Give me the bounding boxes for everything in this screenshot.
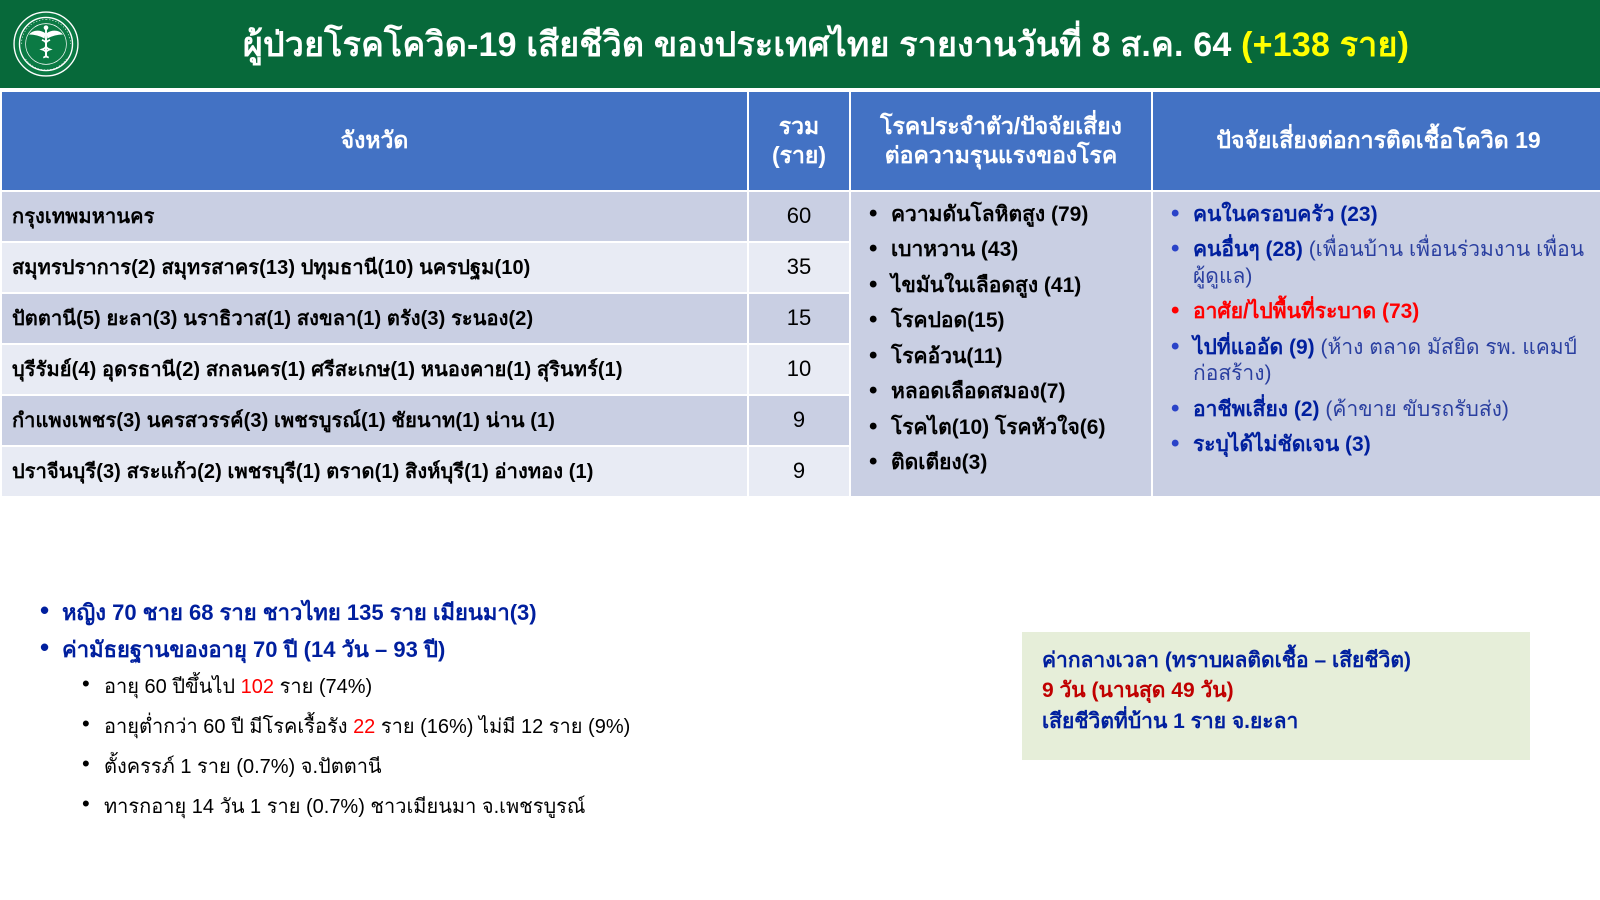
cell-province: ปัตตานี(5) ยะลา(3) นราธิวาส(1) สงขลา(1) … [2, 294, 747, 343]
ministry-of-public-health-seal-icon [12, 10, 80, 78]
list-item: หลอดเลือดสมอง(7) [865, 379, 1143, 405]
note-age-60-plus: อายุ 60 ปีขึ้นไป 102 ราย (74%) [78, 675, 734, 699]
risk-label: ระบุได้ไม่ชัดเจน (3) [1193, 433, 1371, 456]
note-age-under-60-prefix: อายุต่ำกว่า 60 ปี มีโรคเรื้อรัง [104, 716, 353, 738]
cell-province: กรุงเทพมหานคร [2, 192, 747, 241]
note-demographics: หญิง 70 ชาย 68 ราย ชาวไทย 135 ราย เมียนม… [34, 600, 734, 626]
cell-province: สมุทรปราการ(2) สมุทรสาคร(13) ปทุมธานี(10… [2, 243, 747, 292]
risk-label: อาชีพเสี่ยง (2) [1193, 398, 1320, 421]
underlying-conditions-list: ความดันโลหิตสูง (79)เบาหวาน (43)ไขมันในเ… [865, 202, 1143, 477]
note-age-under-60: อายุต่ำกว่า 60 ปี มีโรคเรื้อรัง 22 ราย (… [78, 715, 734, 739]
page-title: ผู้ป่วยโรคโควิด-19 เสียชีวิต ของประเทศไท… [92, 17, 1600, 71]
cell-province: กำแพงเพชร(3) นครสวรรค์(3) เพชรบูรณ์(1) ช… [2, 396, 747, 445]
list-item: คนในครอบครัว (23) [1167, 202, 1596, 228]
note-age-60-plus-count: 102 [241, 676, 274, 698]
column-header-conditions-line1: โรคประจำตัว/ปัจจัยเสี่ยง [859, 112, 1143, 141]
column-header-conditions: โรคประจำตัว/ปัจจัยเสี่ยง ต่อความรุนแรงขอ… [851, 92, 1151, 190]
summary-notes: หญิง 70 ชาย 68 ราย ชาวไทย 135 ราย เมียนม… [34, 600, 734, 835]
risk-detail: (ค้าขาย ขับรถรับส่ง) [1325, 398, 1508, 421]
list-item: อาชีพเสี่ยง (2) (ค้าขาย ขับรถรับส่ง) [1167, 397, 1596, 423]
note-age-under-60-suffix: ราย (16%) ไม่มี 12 ราย (9%) [375, 716, 630, 738]
table-body: กรุงเทพมหานคร60ความดันโลหิตสูง (79)เบาหว… [2, 192, 1600, 496]
note-age-60-plus-suffix: ราย (74%) [274, 676, 372, 698]
infection-risk-factors-list: คนในครอบครัว (23)คนอื่นๆ (28) (เพื่อนบ้า… [1167, 202, 1596, 459]
median-time-callout-box: ค่ากลางเวลา (ทราบผลติดเชื้อ – เสียชีวิต)… [1022, 632, 1530, 760]
header-banner: ผู้ป่วยโรคโควิด-19 เสียชีวิต ของประเทศไท… [0, 0, 1600, 88]
cell-province: บุรีรัมย์(4) อุดรธานี(2) สกลนคร(1) ศรีสะ… [2, 345, 747, 394]
note-median-age: ค่ามัธยฐานของอายุ 70 ปี (14 วัน – 93 ปี) [34, 637, 734, 663]
median-time-label: ค่ากลางเวลา (ทราบผลติดเชื้อ – เสียชีวิต) [1042, 646, 1512, 676]
column-header-conditions-line2: ต่อความรุนแรงของโรค [859, 141, 1143, 170]
list-item: โรคอ้วน(11) [865, 344, 1143, 370]
median-time-value: 9 วัน (นานสุด 49 วัน) [1042, 676, 1512, 706]
table-header-row: จังหวัด รวม (ราย) โรคประจำตัว/ปัจจัยเสี่… [2, 92, 1600, 190]
list-item: คนอื่นๆ (28) (เพื่อนบ้าน เพื่อนร่วมงาน เ… [1167, 237, 1596, 290]
page-title-delta-badge: (+138 ราย) [1241, 26, 1409, 64]
list-item: ไปที่แออัด (9) (ห้าง ตลาด มัสยิด รพ. แคม… [1167, 335, 1596, 388]
list-item: อาศัย/ไปพื้นที่ระบาด (73) [1167, 299, 1596, 325]
cell-infection-risk-factors: คนในครอบครัว (23)คนอื่นๆ (28) (เพื่อนบ้า… [1153, 192, 1600, 496]
infographic-page: ผู้ป่วยโรคโควิด-19 เสียชีวิต ของประเทศไท… [0, 0, 1600, 900]
summary-sub-notes: อายุ 60 ปีขึ้นไป 102 ราย (74%) อายุต่ำกว… [78, 675, 734, 819]
note-age-under-60-count: 22 [353, 716, 375, 738]
note-age-60-plus-prefix: อายุ 60 ปีขึ้นไป [104, 676, 241, 698]
column-header-total-line1: รวม [757, 112, 841, 141]
cell-total: 10 [749, 345, 849, 394]
cell-total: 15 [749, 294, 849, 343]
list-item: ความดันโลหิตสูง (79) [865, 202, 1143, 228]
cell-total: 9 [749, 396, 849, 445]
cell-total: 9 [749, 447, 849, 496]
table-row: กรุงเทพมหานคร60ความดันโลหิตสูง (79)เบาหว… [2, 192, 1600, 241]
note-pregnancy: ตั้งครรภ์ 1 ราย (0.7%) จ.ปัตตานี [78, 755, 734, 779]
cell-province: ปราจีนบุรี(3) สระแก้ว(2) เพชรบุรี(1) ตรา… [2, 447, 747, 496]
note-infant: ทารกอายุ 14 วัน 1 ราย (0.7%) ชาวเมียนมา … [78, 795, 734, 819]
risk-label: อาศัย/ไปพื้นที่ระบาด (73) [1193, 300, 1419, 323]
column-header-total: รวม (ราย) [749, 92, 849, 190]
risk-label: คนในครอบครัว (23) [1193, 203, 1378, 226]
cell-underlying-conditions: ความดันโลหิตสูง (79)เบาหวาน (43)ไขมันในเ… [851, 192, 1151, 496]
risk-label: ไปที่แออัด (9) [1193, 336, 1315, 359]
deaths-by-province-table: จังหวัด รวม (ราย) โรคประจำตัว/ปัจจัยเสี่… [0, 90, 1600, 498]
list-item: โรคปอด(15) [865, 308, 1143, 334]
column-header-province: จังหวัด [2, 92, 747, 190]
ministry-logo-container [0, 0, 92, 88]
column-header-total-line2: (ราย) [757, 141, 841, 170]
list-item: ระบุได้ไม่ชัดเจน (3) [1167, 432, 1596, 458]
risk-label: คนอื่นๆ (28) [1193, 238, 1303, 261]
list-item: โรคไต(10) โรคหัวใจ(6) [865, 415, 1143, 441]
cell-total: 60 [749, 192, 849, 241]
column-header-risk: ปัจจัยเสี่ยงต่อการติดเชื้อโควิด 19 [1153, 92, 1600, 190]
list-item: ติดเตียง(3) [865, 450, 1143, 476]
death-at-home-note: เสียชีวิตที่บ้าน 1 ราย จ.ยะลา [1042, 707, 1512, 737]
list-item: เบาหวาน (43) [865, 237, 1143, 263]
page-title-main: ผู้ป่วยโรคโควิด-19 เสียชีวิต ของประเทศไท… [243, 26, 1232, 64]
list-item: ไขมันในเลือดสูง (41) [865, 273, 1143, 299]
cell-total: 35 [749, 243, 849, 292]
